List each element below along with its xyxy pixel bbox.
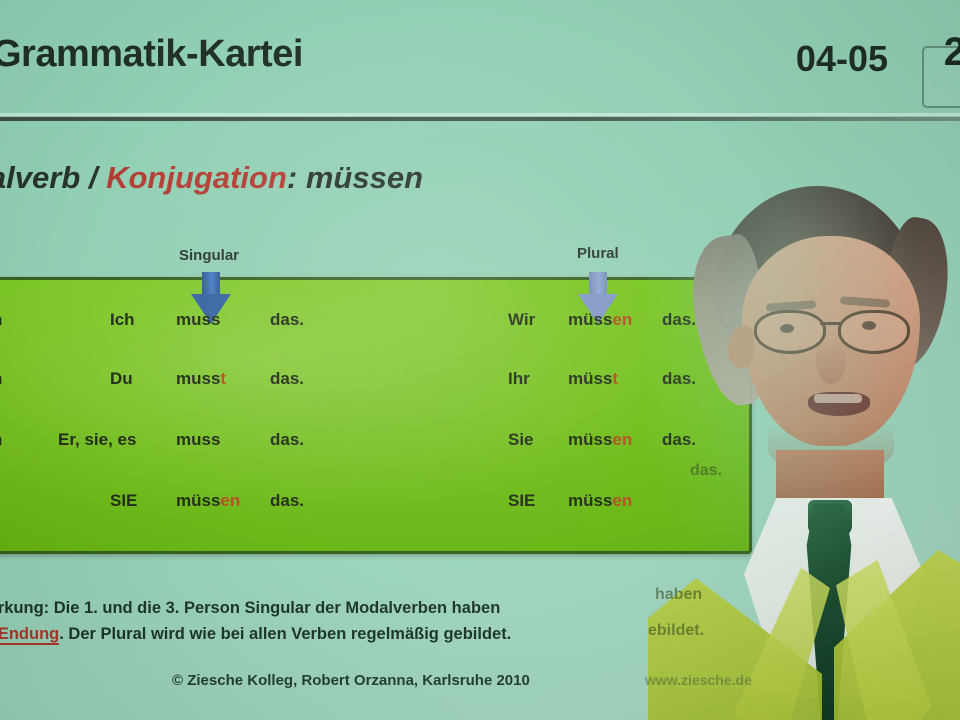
column-caption-singular: Singular [179, 247, 239, 264]
verb-stem: müss [568, 430, 612, 449]
glasses-lens-right [838, 310, 910, 354]
footnote-rest: . Der Plural wird wie bei allen Verben r… [59, 625, 511, 643]
glasses-lens-left [754, 310, 826, 354]
header-divider [0, 117, 960, 121]
table-row-pronoun-plural: SIE [508, 491, 535, 511]
table-row-verb-singular: müssen [176, 491, 240, 511]
table-row-object-singular: das. [270, 369, 304, 389]
verb-ending: t [612, 369, 618, 388]
presenter-nose [816, 338, 846, 384]
header-divider-highlight [0, 113, 960, 116]
glasses-bridge [820, 322, 840, 325]
verb-ending: en [612, 491, 632, 510]
verb-stem: müss [176, 491, 220, 510]
presenter-ear [728, 326, 754, 368]
table-row-verb-singular: muss [176, 310, 220, 330]
table-row-pronoun-singular: Er, sie, es [58, 430, 136, 450]
verb-stem: muss [176, 430, 220, 449]
copyright-line: © Ziesche Kolleg, Robert Orzanna, Karlsr… [172, 672, 530, 689]
table-row-pronoun-singular: Du [110, 369, 133, 389]
subtitle-suffix: : müssen [287, 160, 423, 195]
page-title: Grammatik-Kartei [0, 33, 303, 76]
table-row-verb-plural: müssen [568, 310, 632, 330]
video-slide-frame: Grammatik-Kartei 04-05 2 dalverb / Konju… [0, 0, 960, 720]
table-row-object-singular: das. [270, 310, 304, 330]
column-caption-plural: Plural [577, 245, 619, 262]
table-row-verb-plural: müssen [568, 430, 632, 450]
verb-ending: en [612, 310, 632, 329]
verb-ending: en [612, 430, 632, 449]
table-row-pronoun-plural: Sie [508, 430, 534, 450]
page-number: 2 [944, 30, 960, 75]
verb-stem: müss [568, 369, 612, 388]
presenter-teeth [814, 394, 862, 403]
table-row-prefix: n [0, 430, 2, 450]
website-watermark: www.ziesche.de [645, 672, 752, 688]
table-row-prefix: n [0, 310, 2, 330]
subtitle-prefix: dalverb / [0, 160, 106, 195]
verb-ending: en [220, 491, 240, 510]
topic-subtitle: dalverb / Konjugation: müssen [0, 160, 423, 196]
footnote-accent: ne Endung [0, 625, 59, 645]
table-row-pronoun-plural: Ihr [508, 369, 530, 389]
verb-ending: t [220, 369, 226, 388]
verb-stem: müss [568, 310, 612, 329]
table-row-object-singular: das. [270, 491, 304, 511]
table-row-pronoun-singular: Ich [110, 310, 135, 330]
table-row-pronoun-singular: SIE [110, 491, 137, 511]
card-code: 04-05 [796, 38, 888, 80]
table-row-verb-plural: müssen [568, 491, 632, 511]
table-row-verb-singular: musst [176, 369, 226, 389]
subtitle-accent: Konjugation [106, 160, 287, 195]
table-row-prefix: n [0, 369, 2, 389]
table-row-object-singular: das. [270, 430, 304, 450]
verb-stem: müss [568, 491, 612, 510]
verb-stem: muss [176, 369, 220, 388]
table-row-pronoun-plural: Wir [508, 310, 535, 330]
verb-stem: muss [176, 310, 220, 329]
presenter-video-overlay [648, 178, 960, 720]
table-row-verb-plural: müsst [568, 369, 618, 389]
table-row-verb-singular: muss [176, 430, 220, 450]
